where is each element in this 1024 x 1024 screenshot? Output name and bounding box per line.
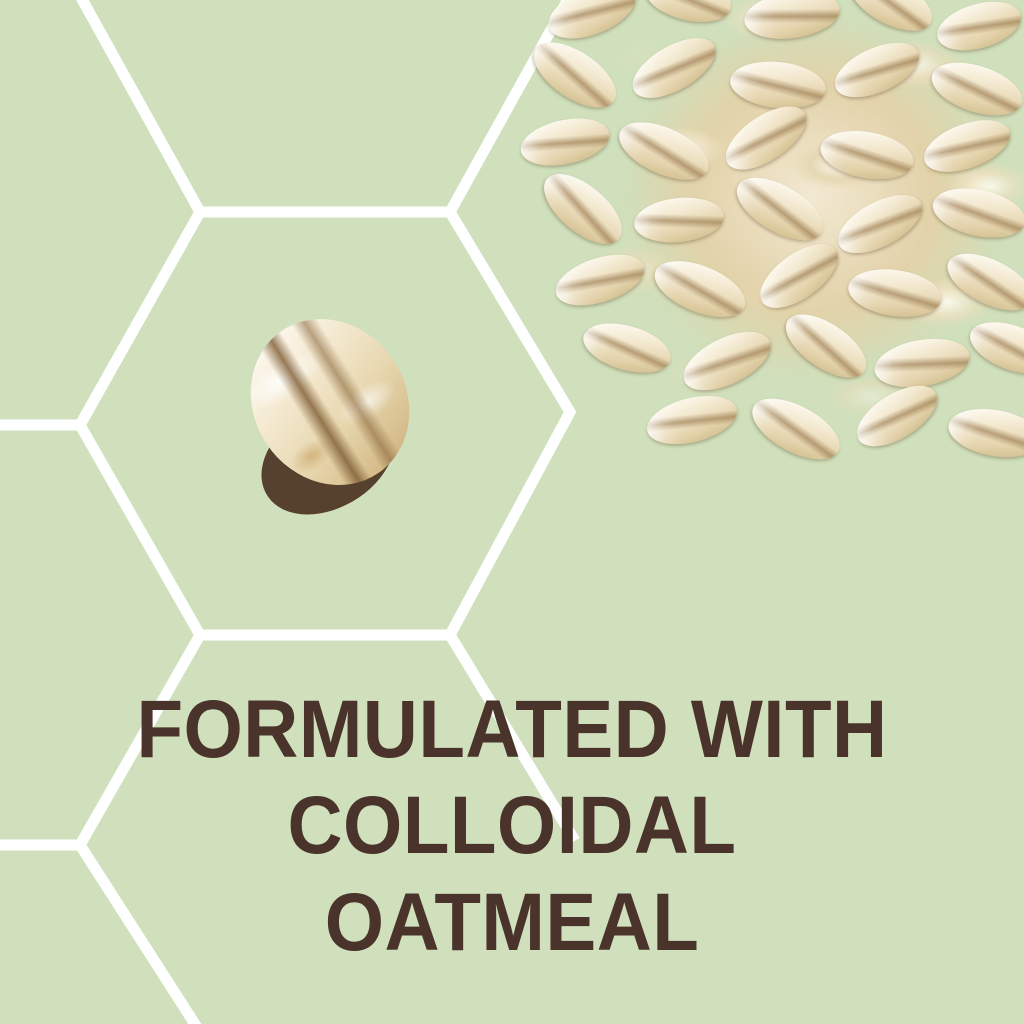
headline-line-1: FORMULATED WITH [36,690,988,770]
headline-line-3: OATMEAL [36,883,988,963]
product-banner: FORMULATED WITH COLLOIDAL OATMEAL [0,0,1024,1024]
single-oat-flake [246,310,418,515]
headline-block: FORMULATED WITH COLLOIDAL OATMEAL [0,690,1024,963]
oat-flake-body [219,288,441,516]
headline-line-2: COLLOIDAL [36,786,988,866]
rolled-oats-cluster [516,0,1024,504]
hexagon-edge-top-left [78,0,200,212]
